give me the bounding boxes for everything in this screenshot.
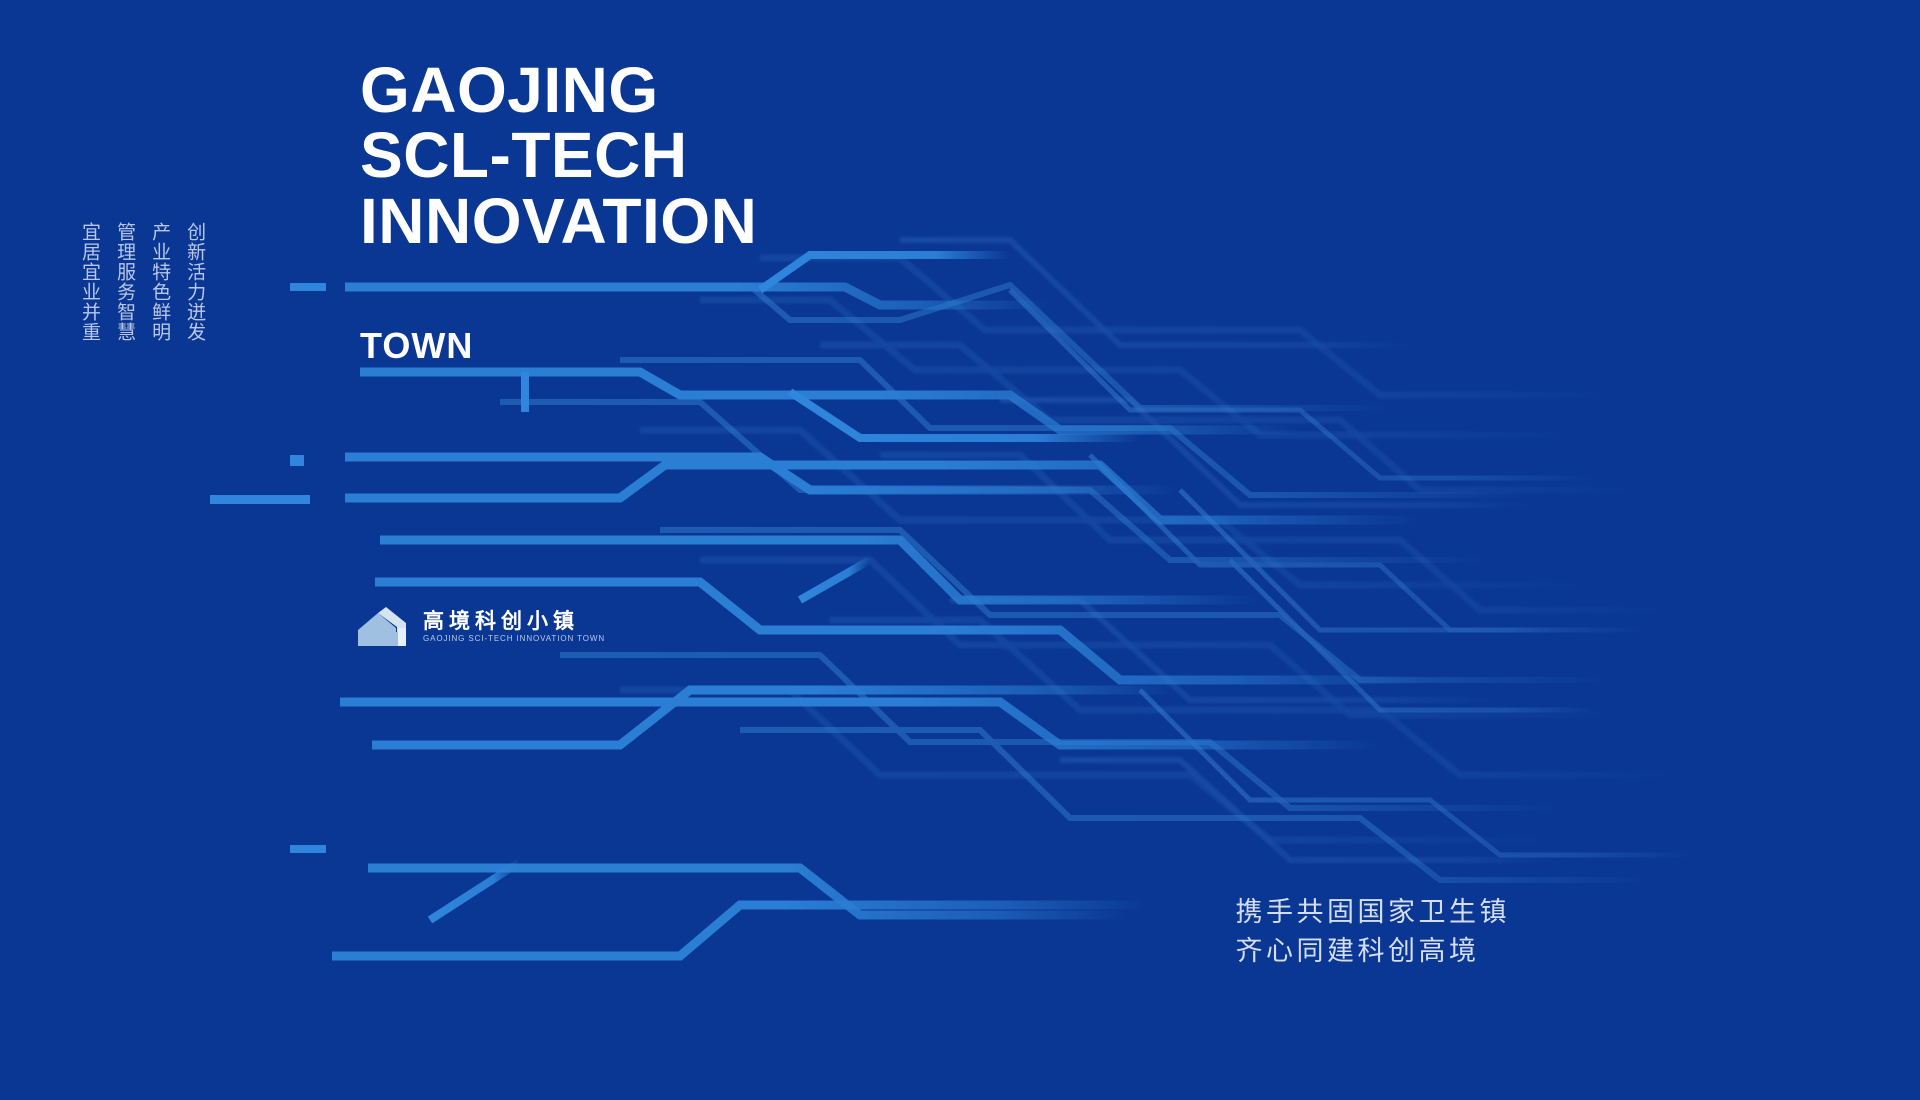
headline-line-4: TOWN	[360, 325, 473, 367]
slogan-line-2: 齐心同建科创高境	[1236, 932, 1511, 971]
logo-name-en: GAOJING SCI-TECH INNOVATION TOWN	[423, 635, 605, 643]
headline-line-2: SCL-TECH	[360, 123, 757, 188]
page-title: GAOJING SCL-TECH INNOVATION	[360, 58, 757, 254]
vertical-tagline-col-1: 创新活力迸发	[183, 222, 205, 342]
circuit-dash-accents	[210, 283, 326, 853]
poster-canvas: 创新活力迸发 产业特色鲜明 管理服务智慧 宜居宜业并重 GAOJING SCL-…	[0, 0, 1920, 1100]
logo: 高境科创小镇 GAOJING SCI-TECH INNOVATION TOWN	[356, 606, 605, 648]
slogan-line-1: 携手共固国家卫生镇	[1236, 893, 1511, 932]
vertical-tagline: 创新活力迸发 产业特色鲜明 管理服务智慧 宜居宜业并重	[78, 222, 205, 342]
logo-text-group: 高境科创小镇 GAOJING SCI-TECH INNOVATION TOWN	[423, 611, 605, 643]
circuit-pattern-mid	[0, 0, 1920, 1100]
house-building-icon	[356, 606, 412, 648]
vertical-tagline-col-2: 产业特色鲜明	[148, 222, 170, 342]
headline-line-1: GAOJING	[360, 58, 757, 123]
logo-name-cn: 高境科创小镇	[423, 611, 605, 632]
vertical-tagline-col-3: 管理服务智慧	[113, 222, 135, 342]
vertical-tagline-col-4: 宜居宜业并重	[78, 222, 100, 342]
slogan: 携手共固国家卫生镇 齐心同建科创高境	[1236, 893, 1511, 971]
headline-line-3: INNOVATION	[360, 189, 757, 254]
circuit-pattern-front	[0, 0, 1920, 1100]
circuit-pattern-back	[0, 0, 1920, 1100]
